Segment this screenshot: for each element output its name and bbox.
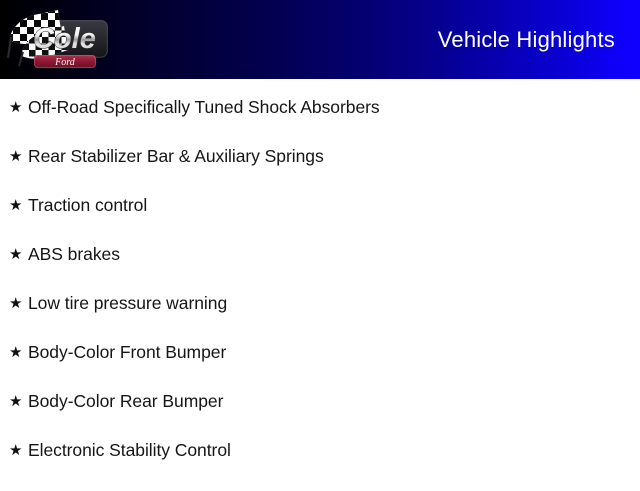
cole-ford-logo[interactable]: Cole Ford xyxy=(6,6,114,74)
star-bullet-icon: ★ xyxy=(9,443,28,458)
vehicle-highlights-list: ★Off-Road Specifically Tuned Shock Absor… xyxy=(0,99,640,491)
page-header: Cole Ford Vehicle Highlights xyxy=(0,0,640,79)
highlight-label: Electronic Stability Control xyxy=(28,442,640,460)
star-bullet-icon: ★ xyxy=(9,394,28,409)
page-title: Vehicle Highlights xyxy=(438,0,615,79)
highlight-label: Body-Color Front Bumper xyxy=(28,344,640,362)
list-item: ★Traction control xyxy=(0,197,640,246)
star-bullet-icon: ★ xyxy=(9,149,28,164)
star-bullet-icon: ★ xyxy=(9,198,28,213)
list-item: ★Body-Color Front Bumper xyxy=(0,344,640,393)
star-bullet-icon: ★ xyxy=(9,247,28,262)
list-item: ★Body-Color Rear Bumper xyxy=(0,393,640,442)
list-item: ★ABS brakes xyxy=(0,246,640,295)
list-item: ★Rear Stabilizer Bar & Auxiliary Springs xyxy=(0,148,640,197)
highlight-label: Rear Stabilizer Bar & Auxiliary Springs xyxy=(28,148,640,166)
list-item: ★Low tire pressure warning xyxy=(0,295,640,344)
list-item: ★Electronic Stability Control xyxy=(0,442,640,491)
highlight-label: Body-Color Rear Bumper xyxy=(28,393,640,411)
list-item: ★Off-Road Specifically Tuned Shock Absor… xyxy=(0,99,640,148)
logo-brand-text: Cole xyxy=(33,23,96,55)
highlight-label: Off-Road Specifically Tuned Shock Absorb… xyxy=(28,99,640,117)
star-bullet-icon: ★ xyxy=(9,296,28,311)
ford-banner: Ford xyxy=(34,55,96,68)
star-bullet-icon: ★ xyxy=(9,345,28,360)
star-bullet-icon: ★ xyxy=(9,100,28,115)
logo-sub-brand-text: Ford xyxy=(54,57,76,68)
highlight-label: Traction control xyxy=(28,197,640,215)
highlight-label: ABS brakes xyxy=(28,246,640,264)
highlight-label: Low tire pressure warning xyxy=(28,295,640,313)
